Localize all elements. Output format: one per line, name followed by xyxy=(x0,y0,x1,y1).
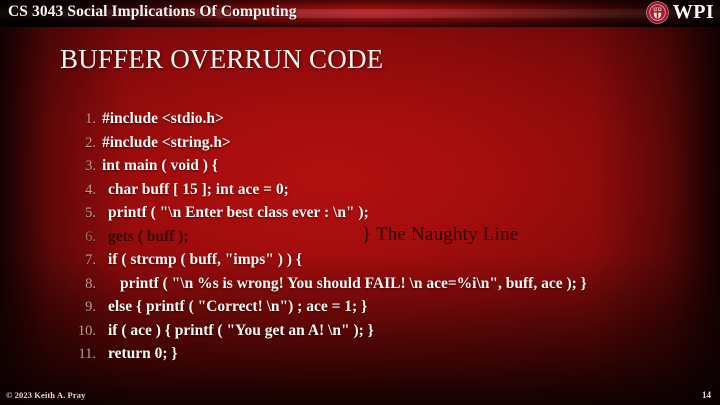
line-number: 2. xyxy=(56,135,96,152)
code-line: 11. return 0; } xyxy=(56,345,696,369)
top-banner: CS 3043 Social Implications Of Computing… xyxy=(0,0,720,27)
line-code: int main ( void ) { xyxy=(102,157,218,175)
code-line: 10. if ( ace ) { printf ( "You get an A!… xyxy=(56,322,696,346)
line-number: 11. xyxy=(56,346,96,363)
line-code: printf ( "\n %s is wrong! You should FAI… xyxy=(120,275,587,293)
line-number: 5. xyxy=(56,205,96,222)
wpi-wordmark: WPI xyxy=(673,1,714,24)
page-title: BUFFER OVERRUN CODE xyxy=(60,44,383,75)
line-code: #include <string.h> xyxy=(102,134,231,152)
footer-page-number: 14 xyxy=(702,390,711,400)
line-number: 3. xyxy=(56,158,96,175)
line-number: 6. xyxy=(56,229,96,246)
line-code: else { printf ( "Correct! \n") ; ace = 1… xyxy=(108,298,367,316)
code-listing: 1. #include <stdio.h> 2. #include <strin… xyxy=(56,110,696,369)
line-code: #include <stdio.h> xyxy=(102,110,224,128)
code-line: 7. if ( strcmp ( buff, "imps" ) ) { xyxy=(56,251,696,275)
code-line: 9. else { printf ( "Correct! \n") ; ace … xyxy=(56,298,696,322)
wpi-logo: WPI xyxy=(646,1,714,24)
line-number: 8. xyxy=(56,276,96,293)
course-title: CS 3043 Social Implications Of Computing xyxy=(8,3,297,21)
code-line-naughty: 6. gets ( buff ); } The Naughty Line xyxy=(56,228,696,252)
line-code: return 0; } xyxy=(108,345,178,363)
line-number: 4. xyxy=(56,182,96,199)
code-line: 8. printf ( "\n %s is wrong! You should … xyxy=(56,275,696,299)
code-line: 3. int main ( void ) { xyxy=(56,157,696,181)
line-code: if ( ace ) { printf ( "You get an A! \n"… xyxy=(108,322,374,340)
line-code: char buff [ 15 ]; int ace = 0; xyxy=(108,181,289,199)
line-code: gets ( buff ); xyxy=(108,228,189,246)
line-number: 10. xyxy=(56,323,96,340)
footer-copyright: © 2023 Keith A. Pray xyxy=(6,390,85,400)
line-number: 1. xyxy=(56,111,96,128)
line-number: 9. xyxy=(56,299,96,316)
code-line: 1. #include <stdio.h> xyxy=(56,110,696,134)
line-number: 7. xyxy=(56,252,96,269)
slide-canvas: CS 3043 Social Implications Of Computing… xyxy=(0,0,720,405)
code-line: 4. char buff [ 15 ]; int ace = 0; xyxy=(56,181,696,205)
line-code: if ( strcmp ( buff, "imps" ) ) { xyxy=(108,251,302,269)
naughty-line-annotation: } The Naughty Line xyxy=(362,224,518,246)
wpi-seal-icon xyxy=(646,1,669,24)
code-line: 2. #include <string.h> xyxy=(56,134,696,158)
line-code: printf ( "\n Enter best class ever : \n"… xyxy=(108,204,369,222)
